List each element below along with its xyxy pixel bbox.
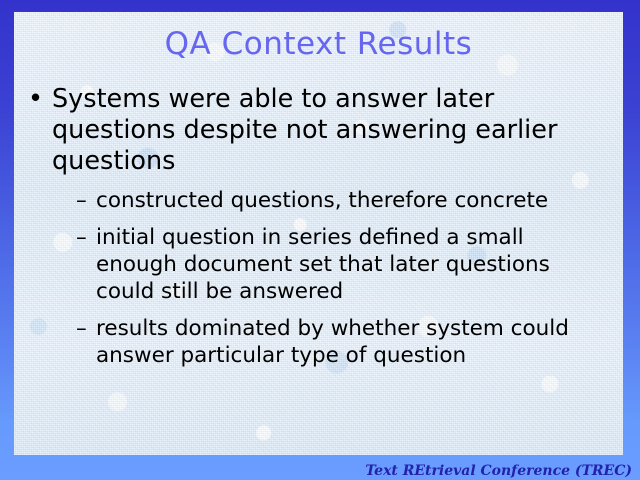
list-item: – initial question in series defined a s… bbox=[14, 224, 623, 305]
slide-content-panel: QA Context Results • Systems were able t… bbox=[14, 12, 623, 455]
bullet-dash-icon: – bbox=[76, 187, 87, 214]
list-item-label: results dominated by whether system coul… bbox=[96, 315, 596, 369]
list-item: • Systems were able to answer later ques… bbox=[14, 84, 623, 177]
list-item: – results dominated by whether system co… bbox=[14, 315, 623, 369]
bullet-dot-icon: • bbox=[28, 84, 43, 115]
list-item-label: Systems were able to answer later questi… bbox=[52, 84, 567, 177]
page-title: QA Context Results bbox=[14, 26, 623, 62]
bullet-list: • Systems were able to answer later ques… bbox=[14, 84, 623, 369]
slide: QA Context Results • Systems were able t… bbox=[0, 0, 640, 480]
slide-footer: Text REtrieval Conference (TREC) bbox=[365, 463, 632, 479]
bullet-dash-icon: – bbox=[76, 224, 87, 251]
list-item: – constructed questions, therefore concr… bbox=[14, 187, 623, 214]
list-item-label: initial question in series defined a sma… bbox=[96, 224, 596, 305]
slide-content-inner: QA Context Results • Systems were able t… bbox=[14, 12, 623, 455]
list-item-label: constructed questions, therefore concret… bbox=[96, 187, 596, 214]
bullet-dash-icon: – bbox=[76, 315, 87, 342]
